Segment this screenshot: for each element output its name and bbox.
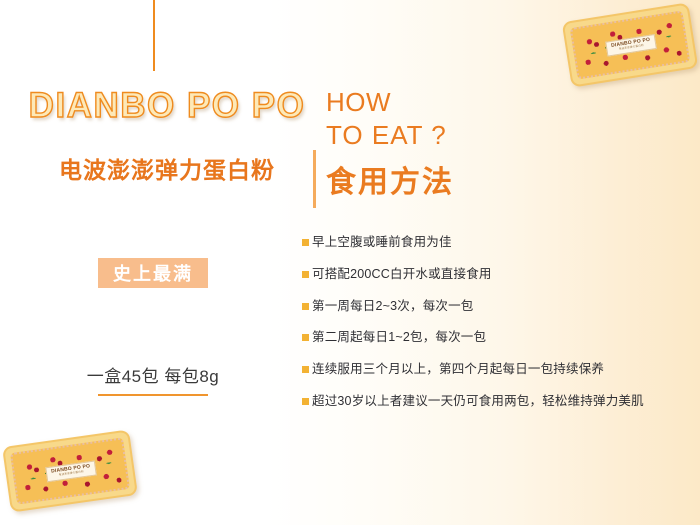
square-bullet-icon [302,271,309,278]
square-bullet-icon [302,334,309,341]
square-bullet-icon [302,398,309,405]
section-vertical-rule [313,150,316,208]
tin-label: DIANBO PO PO 电波澎澎弹力蛋白粉 [605,34,657,56]
list-item-label: 连续服用三个月以上，第四个月起每日一包持续保养 [312,363,604,377]
list-item: 第一周每日2~3次，每次一包 [302,300,644,314]
brand-title: DIANBO PO PO [22,88,312,123]
spec-underline-rule [98,394,208,396]
list-item: 超过30岁以上者建议一天仍可食用两包，轻松维持弹力美肌 [302,395,644,409]
list-item-label: 早上空腹或睡前食用为佳 [312,236,452,250]
product-tin-top-right: DIANBO PO PO 电波澎澎弹力蛋白粉 [562,2,699,87]
list-item: 早上空腹或睡前食用为佳 [302,236,644,250]
cherry-pattern: DIANBO PO PO 电波澎澎弹力蛋白粉 [10,437,130,504]
list-item: 可搭配200CC白开水或直接食用 [302,268,644,282]
tin-label-subtitle: 电波澎澎弹力蛋白粉 [619,45,644,51]
square-bullet-icon [302,303,309,310]
status-badge: 史上最满 [98,258,208,288]
top-vertical-rule [153,0,155,71]
list-item-label: 第一周每日2~3次，每次一包 [312,300,474,314]
list-item: 连续服用三个月以上，第四个月起每日一包持续保养 [302,363,644,377]
section-heading-english: HOW TO EAT ? [326,86,447,153]
section-heading-chinese: 食用方法 [326,157,454,201]
product-spec-text: 一盒45包 每包8g [50,362,256,387]
square-bullet-icon [302,366,309,373]
list-item-label: 超过30岁以上者建议一天仍可食用两包，轻松维持弹力美肌 [312,395,644,409]
brand-subtitle: 电波澎澎弹力蛋白粉 [22,151,312,185]
list-item-label: 可搭配200CC白开水或直接食用 [312,268,492,282]
tin-label-subtitle: 电波澎澎弹力蛋白粉 [59,471,84,477]
heading-line-2: TO EAT ? [326,119,447,152]
usage-steps-list: 早上空腹或睡前食用为佳可搭配200CC白开水或直接食用第一周每日2~3次，每次一… [302,236,644,427]
list-item: 第二周起每日1~2包，每次一包 [302,331,644,345]
list-item-label: 第二周起每日1~2包，每次一包 [312,331,486,345]
tin-label: DIANBO PO PO 电波澎澎弹力蛋白粉 [45,461,97,482]
cherry-pattern: DIANBO PO PO 电波澎澎弹力蛋白粉 [570,10,691,79]
product-tin-bottom-left: DIANBO PO PO 电波澎澎弹力蛋白粉 [2,429,138,512]
promo-poster: DIANBO PO PO 电波澎澎弹力蛋白粉 史上最满 一盒45包 每包8g H… [0,0,700,525]
heading-line-1: HOW [326,86,447,119]
square-bullet-icon [302,239,309,246]
